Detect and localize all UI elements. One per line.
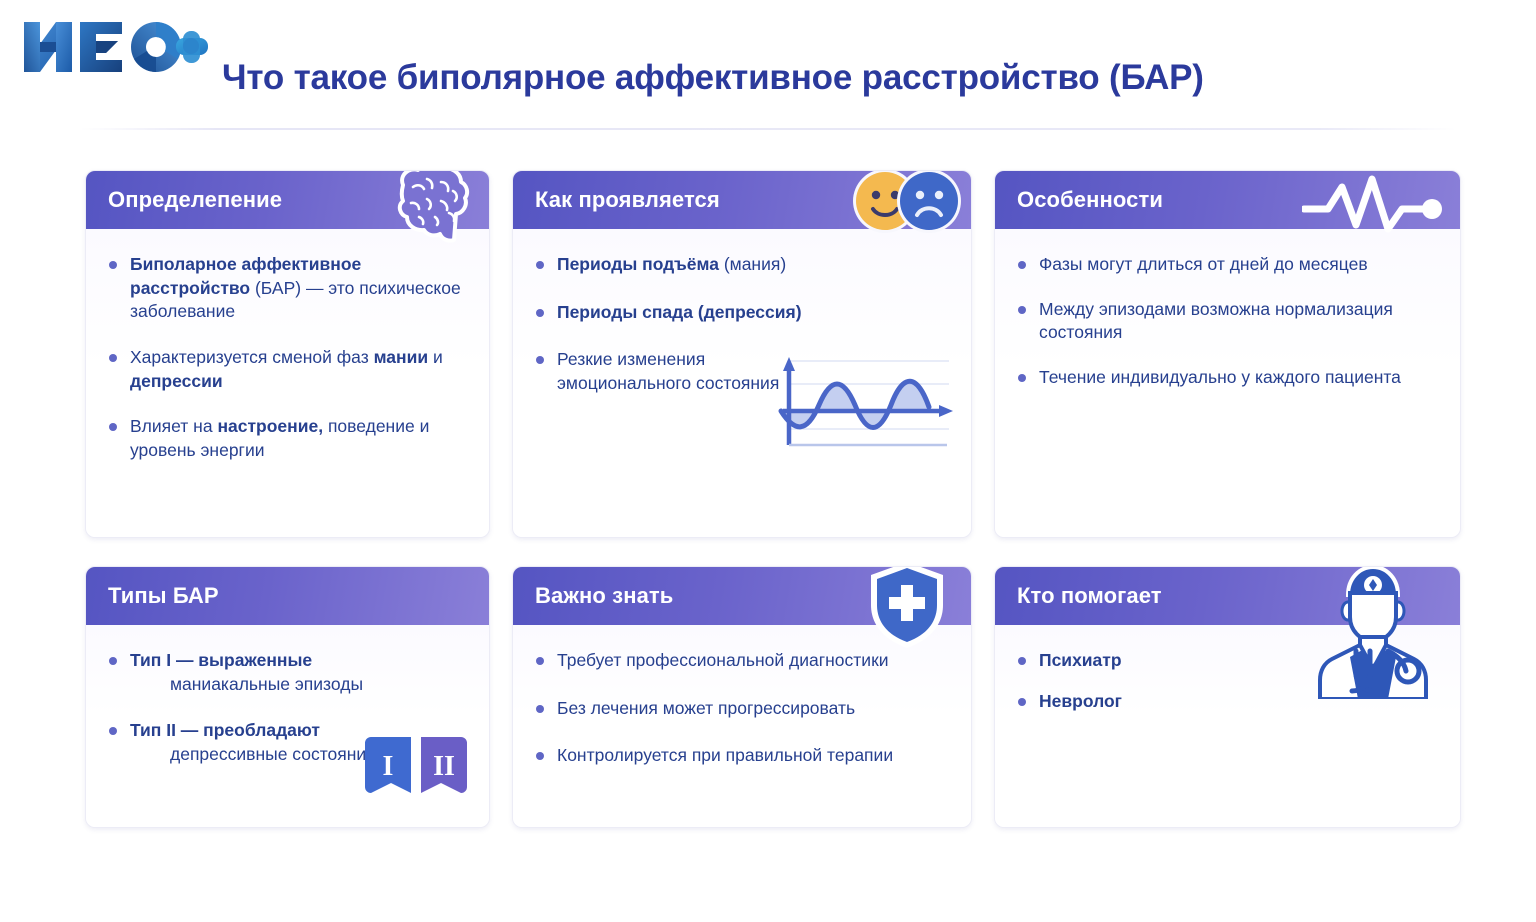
card-definition: Определепение — [85, 170, 490, 538]
list-item: Без лечения может прогрессировать — [535, 697, 935, 721]
list-item: Невролог — [1017, 690, 1267, 714]
card-header-who-helps: Кто помогает — [995, 567, 1460, 625]
svg-text:II: II — [433, 751, 455, 782]
card-header-definition: Определепение — [86, 171, 489, 229]
card-important-to-know: Важно знать Требует профессиональной диа… — [512, 566, 972, 828]
card-title: Типы БАР — [108, 583, 219, 609]
list-item: Психиатр — [1017, 649, 1267, 673]
list-item: Течение индивидуально у каждого пациента — [1017, 366, 1437, 390]
card-how-it-manifests: Как проявляется — [512, 170, 972, 538]
infographic-page: Что такое биполярное аффективное расстро… — [0, 0, 1536, 922]
list-item: Фазы могут длиться от дней до месяцев — [1017, 253, 1437, 277]
card-header-features: Особенности — [995, 171, 1460, 229]
list-item: Биполарное аффективное расстройство (БАР… — [108, 253, 463, 324]
smiley-faces-icon — [843, 170, 965, 237]
svg-text:I: I — [383, 751, 394, 782]
card-types: Типы БАР Тип I — выраженные маниакальные… — [85, 566, 490, 828]
list-item: Характеризуется сменой фаз мании и депре… — [108, 346, 463, 393]
bullet-list: Требует профессиональной диагностики Без… — [535, 649, 951, 768]
card-body-who-helps: Психиатр Невролог — [995, 625, 1460, 827]
bullet-list: Психиатр Невролог — [1017, 649, 1440, 713]
card-body-how-it-manifests: Периоды подъёма (мания) Периоды спада (д… — [513, 229, 971, 537]
card-header-types: Типы БАР — [86, 567, 489, 625]
list-item: Требует профессиональной диагностики — [535, 649, 935, 673]
bullet-list: Фазы могут длиться от дней до месяцев Ме… — [1017, 253, 1440, 390]
card-title: Определепение — [108, 187, 282, 213]
card-title: Кто помогает — [1017, 583, 1162, 609]
neo-plus-logo — [18, 16, 208, 78]
card-body-types: Тип I — выраженные маниакальные эпизоды … — [86, 625, 489, 827]
list-item: Влияет на настроение, поведение и уровен… — [108, 415, 463, 462]
card-title: Как проявляется — [535, 187, 720, 213]
card-grid: Определепение — [85, 170, 1457, 828]
card-body-important-to-know: Требует профессиональной диагностики Без… — [513, 625, 971, 827]
type-badges-icon: I II — [361, 735, 471, 807]
list-item: Между эпизодами возможна нормализация со… — [1017, 298, 1437, 345]
card-body-features: Фазы могут длиться от дней до месяцев Ме… — [995, 229, 1460, 537]
mood-wave-chart-icon — [769, 349, 959, 455]
page-title: Что такое биполярное аффективное расстро… — [222, 58, 1204, 98]
card-header-important-to-know: Важно знать — [513, 567, 971, 625]
card-title: Особенности — [1017, 187, 1163, 213]
list-item: Контролируется при правильной терапии — [535, 744, 935, 768]
card-features: Особенности Фазы могут длиться от дней д… — [994, 170, 1461, 538]
card-body-definition: Биполарное аффективное расстройство (БАР… — [86, 229, 489, 537]
list-item: Периоды подъёма (мания) — [535, 253, 835, 277]
card-header-how-it-manifests: Как проявляется — [513, 171, 971, 229]
card-who-helps: Кто помогает — [994, 566, 1461, 828]
list-item-main: Тип I — выраженные — [130, 650, 312, 670]
page-header: Что такое биполярное аффективное расстро… — [0, 0, 1536, 130]
card-title: Важно знать — [535, 583, 673, 609]
list-item: Периоды спада (депрессия) — [535, 301, 835, 325]
list-item-main: Тип II — преобладают — [130, 720, 320, 740]
bullet-list: Биполарное аффективное расстройство (БАР… — [108, 253, 469, 462]
list-item: Тип I — выраженные маниакальные эпизоды — [108, 649, 408, 696]
list-item-sub: маниакальные эпизоды — [130, 673, 408, 697]
header-divider — [80, 128, 1456, 130]
